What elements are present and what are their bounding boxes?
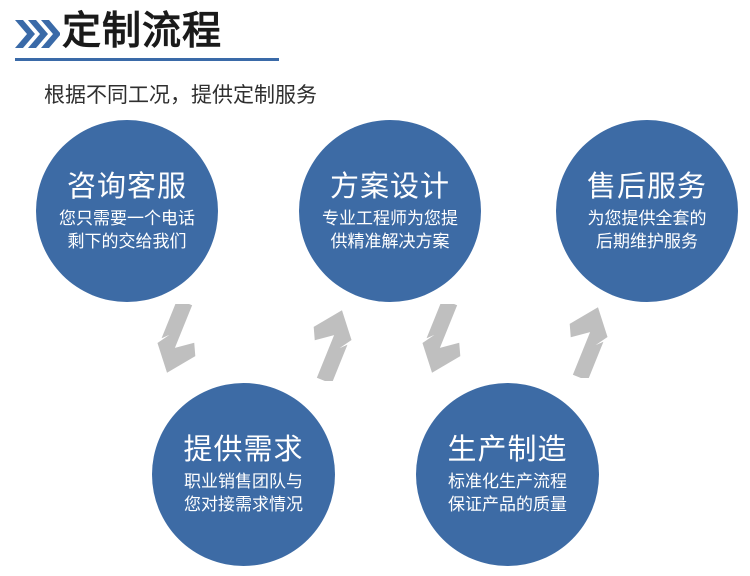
step-title: 售后服务 bbox=[587, 170, 707, 204]
page-title: 定制流程 bbox=[62, 8, 222, 56]
arrow-up-right-icon bbox=[289, 303, 361, 381]
arrow-up-right-icon bbox=[545, 300, 617, 378]
step-desc-line2: 保证产品的质量 bbox=[448, 493, 567, 516]
step-title: 方案设计 bbox=[330, 170, 450, 204]
arrow-down-right-icon bbox=[154, 304, 226, 382]
process-flow-infographic: 定制流程 根据不同工况，提供定制服务 咨询客服 您只需要一个电话 剩下的交给我们… bbox=[0, 0, 750, 576]
step-node-design[interactable]: 方案设计 专业工程师为您提 供精准解决方案 bbox=[299, 120, 481, 302]
step-desc-line2: 您对接需求情况 bbox=[184, 493, 303, 516]
arrow-down-right-icon bbox=[419, 304, 491, 382]
step-node-consult[interactable]: 咨询客服 您只需要一个电话 剩下的交给我们 bbox=[36, 120, 218, 302]
step-node-requirements[interactable]: 提供需求 职业销售团队与 您对接需求情况 bbox=[152, 383, 335, 566]
step-desc-line2: 剩下的交给我们 bbox=[68, 230, 187, 253]
step-desc-line1: 为您提供全套的 bbox=[588, 207, 707, 230]
step-desc-line1: 专业工程师为您提 bbox=[322, 207, 458, 230]
step-desc-line1: 您只需要一个电话 bbox=[59, 207, 195, 230]
page-subtitle: 根据不同工况，提供定制服务 bbox=[44, 82, 317, 110]
step-title: 提供需求 bbox=[183, 433, 303, 467]
step-node-manufacture[interactable]: 生产制造 标准化生产流程 保证产品的质量 bbox=[416, 383, 599, 566]
step-desc-line2: 供精准解决方案 bbox=[331, 230, 450, 253]
step-desc-line2: 后期维护服务 bbox=[596, 230, 698, 253]
title-underline bbox=[15, 58, 279, 61]
section-header: 定制流程 根据不同工况，提供定制服务 bbox=[0, 0, 750, 118]
step-title: 咨询客服 bbox=[67, 170, 187, 204]
step-desc-line1: 标准化生产流程 bbox=[448, 470, 567, 493]
step-title: 生产制造 bbox=[447, 433, 567, 467]
step-node-after-sales[interactable]: 售后服务 为您提供全套的 后期维护服务 bbox=[556, 120, 738, 302]
triple-chevron-right-icon bbox=[14, 18, 60, 50]
step-desc-line1: 职业销售团队与 bbox=[184, 470, 303, 493]
